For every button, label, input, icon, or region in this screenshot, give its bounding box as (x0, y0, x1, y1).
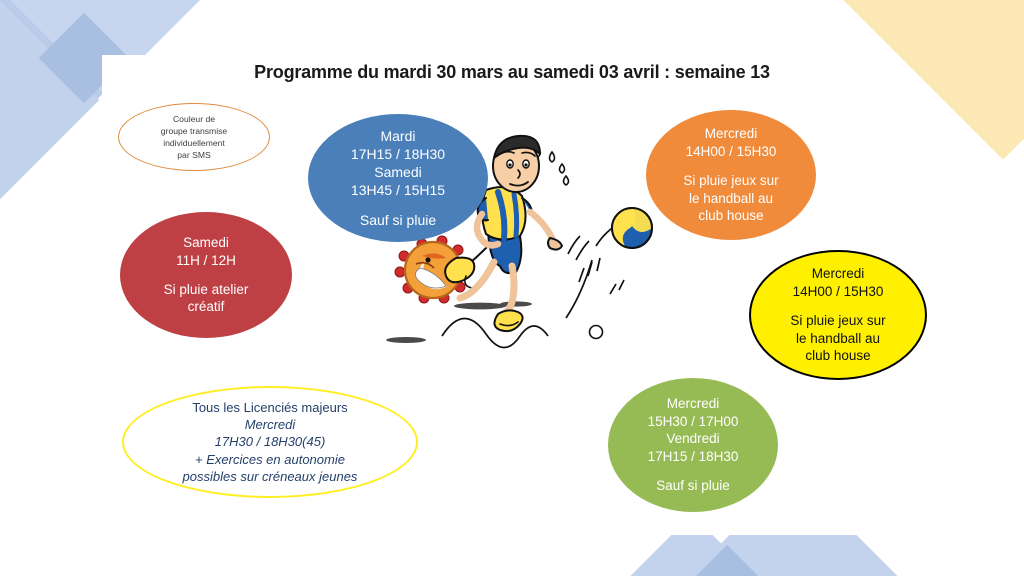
orange-line-5: le handball au (689, 190, 773, 208)
licencies-line-5: possibles sur créneaux jeunes (183, 468, 358, 485)
bottom-right-diamond-small (689, 545, 765, 576)
blue-line-3: Samedi (374, 163, 421, 181)
yellow-line-5: le handball au (796, 330, 880, 348)
mercredi-afternoon-group-yellow-bubble: Mercredi 14H00 / 15H30 Si pluie jeux sur… (749, 250, 927, 380)
orange-line-2: 14H00 / 15H30 (686, 143, 777, 161)
green-line-1: Mercredi (667, 395, 720, 413)
mercredi-afternoon-group-bubble: Mercredi 14H00 / 15H30 Si pluie jeux sur… (646, 110, 816, 240)
yellow-line-6: club house (805, 347, 870, 365)
top-left-diamond-lower (0, 0, 99, 227)
sms-note-bubble: Couleur de groupe transmise individuelle… (118, 103, 270, 171)
orange-line-6: club house (698, 207, 763, 225)
sms-line-1: Couleur de (173, 113, 215, 125)
licencies-majeurs-note-bubble: Tous les Licenciés majeurs Mercredi 17H3… (122, 386, 418, 498)
red-line-5: créatif (188, 298, 225, 316)
blue-line-4: 13H45 / 15H15 (351, 181, 445, 199)
red-line-4: Si pluie atelier (164, 281, 249, 299)
red-line-1: Samedi (183, 234, 229, 252)
orange-line-4: Si pluie jeux sur (683, 172, 778, 190)
green-line-4: 17H15 / 18H30 (648, 448, 739, 466)
yellow-line-4: Si pluie jeux sur (790, 312, 885, 330)
blue-line-6: Sauf si pluie (360, 211, 436, 229)
orange-line-1: Mercredi (705, 125, 758, 143)
page-title: Programme du mardi 30 mars au samedi 03 … (0, 62, 1024, 83)
samedi-morning-group-bubble: Samedi 11H / 12H Si pluie atelier créati… (120, 212, 292, 338)
licencies-line-2: Mercredi (245, 416, 296, 433)
green-line-3: Vendredi (666, 430, 719, 448)
sms-line-4: par SMS (177, 149, 210, 161)
blue-line-2: 17H15 / 18H30 (351, 145, 445, 163)
yellow-line-2: 14H00 / 15H30 (793, 283, 884, 301)
yellow-line-1: Mercredi (812, 265, 865, 283)
licencies-line-1: Tous les Licenciés majeurs (192, 399, 347, 416)
licencies-line-4: + Exercices en autonomie (195, 451, 345, 468)
sms-line-2: groupe transmise (161, 125, 227, 137)
green-line-2: 15H30 / 17H00 (648, 413, 739, 431)
blue-line-1: Mardi (380, 127, 415, 145)
sms-line-3: individuellement (163, 137, 225, 149)
top-right-diamond-medium (787, 0, 1013, 43)
mercredi-vendredi-group-bubble: Mercredi 15H30 / 17H00 Vendredi 17H15 / … (608, 378, 778, 512)
licencies-line-3: 17H30 / 18H30(45) (215, 433, 326, 450)
red-line-2: 11H / 12H (176, 252, 236, 270)
mardi-samedi-group-bubble: Mardi 17H15 / 18H30 Samedi 13H45 / 15H15… (308, 114, 488, 242)
green-line-6: Sauf si pluie (656, 477, 730, 495)
